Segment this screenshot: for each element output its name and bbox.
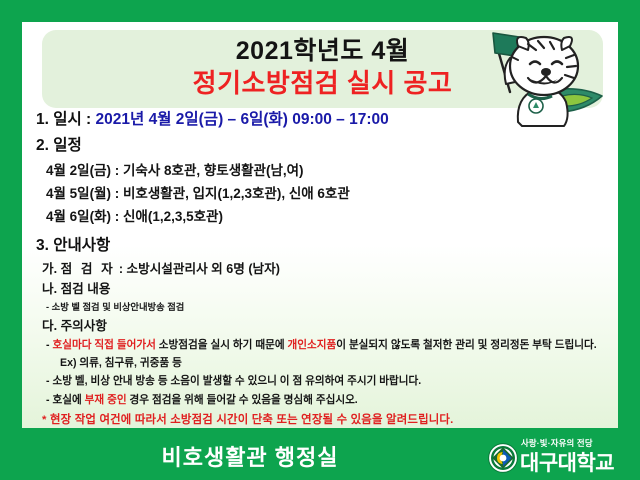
inspection-content-label: 나. 점검 내용 <box>42 280 606 300</box>
notice-poster: 2021학년도 4월 정기소방점검 실시 공고 <box>0 0 640 480</box>
notice-panel: 2021학년도 4월 정기소방점검 실시 공고 <box>22 22 618 428</box>
schedule-line: 4월 5일(월) : 비호생활관, 입지(1,2,3호관), 신애 6호관 <box>46 183 606 205</box>
schedule-line: 4월 2일(금) : 기숙사 8호관, 향토생활관(남,여) <box>46 160 606 182</box>
caution-item: - 소방 벨, 비상 안내 방송 등 소음이 발생할 수 있으니 이 점 유의하… <box>46 373 606 390</box>
page-title-main: 정기소방점검 실시 공고 <box>42 66 603 101</box>
page-title-year: 2021학년도 4월 <box>42 35 603 69</box>
university-logo: 사랑·빛·자유의 전당 대구대학교 <box>488 434 628 478</box>
schedule-line: 4월 6일(화) : 신애(1,2,3,5호관) <box>46 206 606 228</box>
caution-highlight: 개인소지품 <box>288 339 337 351</box>
caution-highlight: 부재 중인 <box>85 394 127 406</box>
datetime-value: 2021년 4월 2일(금) – 6일(화) 09:00 – 17:00 <box>96 111 389 128</box>
inspector-label: 점 검 자 <box>61 262 116 276</box>
caution-item: - 호실마다 직접 들어가서 소방점검을 실시 하기 때문에 개인소지품이 분실… <box>46 337 606 354</box>
final-note: * 현장 작업 여건에 따라서 소방점검 시간이 단축 또는 연장될 수 있음을… <box>42 411 606 428</box>
datetime-row: 1. 일시 : 2021년 4월 2일(금) – 6일(화) 09:00 – 1… <box>36 108 606 132</box>
caution-post: 이 분실되지 않도록 철저한 관리 및 정리정돈 부탁 드립니다. <box>336 339 596 351</box>
caution-example: Ex) 의류, 침구류, 귀중품 등 <box>60 355 606 372</box>
university-name: 대구대학교 <box>520 447 614 477</box>
caution-pre: - 호실에 <box>46 394 85 406</box>
caution-pre: - 소방 벨, 비상 안내 방송 등 소음이 발생할 수 있으니 이 점 유의하… <box>46 375 421 387</box>
notice-heading: 3. 안내사항 <box>36 234 606 258</box>
caution-mid: 소방점검을 실시 하기 때문에 <box>156 339 288 351</box>
caution-label: 다. 주의사항 <box>42 317 606 337</box>
title-banner: 2021학년도 4월 정기소방점검 실시 공고 <box>42 30 603 108</box>
caution-highlight: 호실마다 직접 들어가서 <box>52 339 155 351</box>
caution-mid: 경우 점검을 위해 들어갈 수 있음을 명심해 주십시오. <box>127 394 358 406</box>
datetime-label: 1. 일시 : <box>36 111 96 128</box>
inspector-value: : 소방시설관리사 외 6명 (남자) <box>115 262 280 276</box>
inspection-content-detail: - 소방 벨 점검 및 비상안내방송 점검 <box>46 301 606 315</box>
footer-bar: 비호생활관 행정실 사랑·빛·자유의 전당 대구대학교 <box>0 430 640 480</box>
schedule-heading: 2. 일정 <box>36 134 606 158</box>
caution-item: - 호실에 부재 중인 경우 점검을 위해 들어갈 수 있음을 명심해 주십시오… <box>46 392 606 409</box>
daegu-university-emblem-icon <box>488 443 518 473</box>
inspector-row: 가. 점 검 자 : 소방시설관리사 외 6명 (남자) <box>42 260 606 280</box>
notice-body: 1. 일시 : 2021년 4월 2일(금) – 6일(화) 09:00 – 1… <box>22 108 618 428</box>
inspector-prefix: 가. <box>42 262 61 276</box>
